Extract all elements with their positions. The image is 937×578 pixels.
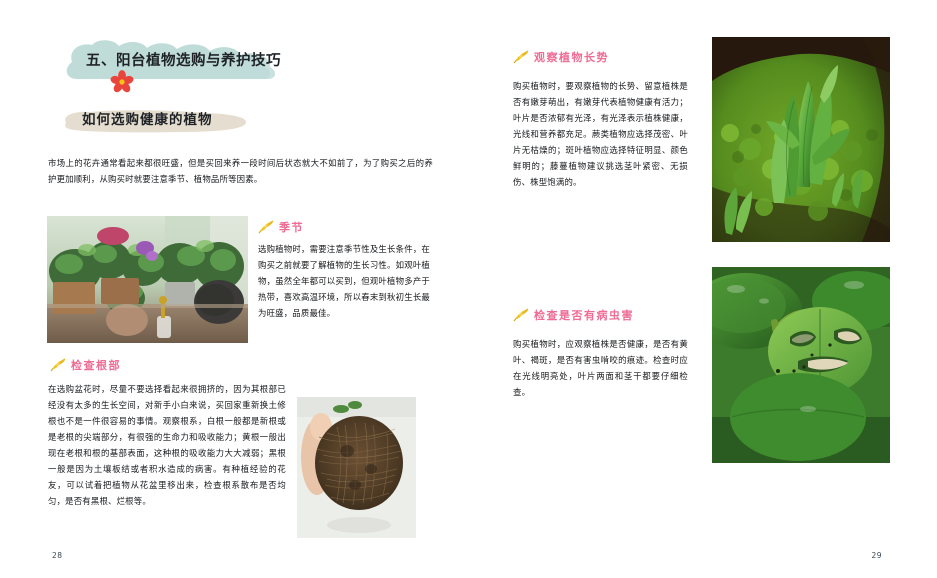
subsection-body-roots: 在选购盆花时，尽量不要选择看起来很拥挤的，因为其根部已经没有太多的生长空间，对新… <box>48 381 286 509</box>
subsection-title-text: 检查是否有病虫害 <box>534 307 634 323</box>
subsection-body-growth: 购买植物时，要观察植物的长势、留意植株是否有嫩芽萌出，有嫩芽代表植物健康有活力；… <box>513 78 688 190</box>
intro-paragraph: 市场上的花卉通常看起来都很旺盛，但是买回来养一段时间后状态就大不如前了，为了购买… <box>48 155 433 187</box>
page-left: 五、阳台植物选购与养护技巧 如何选购健康的植物 市场上的花卉通常看起来都很旺盛，… <box>0 0 468 578</box>
section-title-banner: 如何选购健康的植物 <box>60 103 250 135</box>
subsection-body-season: 选购植物时，需要注意季节性及生长条件，在购买之前就要了解植物的生长习性。如观叶植… <box>258 241 430 321</box>
book-spread: 五、阳台植物选购与养护技巧 如何选购健康的植物 市场上的花卉通常看起来都很旺盛，… <box>0 0 937 578</box>
subsection-heading-growth: 观察植物长势 <box>513 49 609 65</box>
subsection-title-text: 观察植物长势 <box>534 49 609 65</box>
section-title-text: 如何选购健康的植物 <box>82 108 213 128</box>
leaf-sprig-icon <box>513 308 529 322</box>
chapter-title-banner: 五、阳台植物选购与养护技巧 <box>58 40 283 80</box>
subsection-title-text: 检查根部 <box>71 357 121 373</box>
subsection-heading-pest: 检查是否有病虫害 <box>513 307 634 323</box>
leaf-sprig-icon <box>50 358 66 372</box>
leaf-sprig-icon <box>258 220 274 234</box>
pest-damaged-leaf-photo <box>712 267 890 479</box>
leaf-sprig-icon <box>513 50 529 64</box>
flower-icon <box>110 70 134 94</box>
subsection-body-pest: 购买植物时，应观察植株是否健康，是否有黄叶、褐斑，是否有害虫啃咬的痕迹。检查时应… <box>513 336 688 400</box>
root-ball-photo <box>297 397 416 538</box>
page-number-right: 29 <box>871 551 882 560</box>
page-right: 观察植物长势 购买植物时，要观察植物的长势、留意植株是否有嫩芽萌出，有嫩芽代表植… <box>469 0 937 578</box>
subsection-title-text: 季节 <box>279 219 304 235</box>
windowsill-plants-photo <box>47 216 248 343</box>
subsection-heading-roots: 检查根部 <box>50 357 121 373</box>
chapter-title-text: 五、阳台植物选购与养护技巧 <box>86 49 281 70</box>
subsection-heading-season: 季节 <box>258 219 304 235</box>
page-number-left: 28 <box>52 551 63 560</box>
new-shoots-moss-photo <box>712 37 890 242</box>
